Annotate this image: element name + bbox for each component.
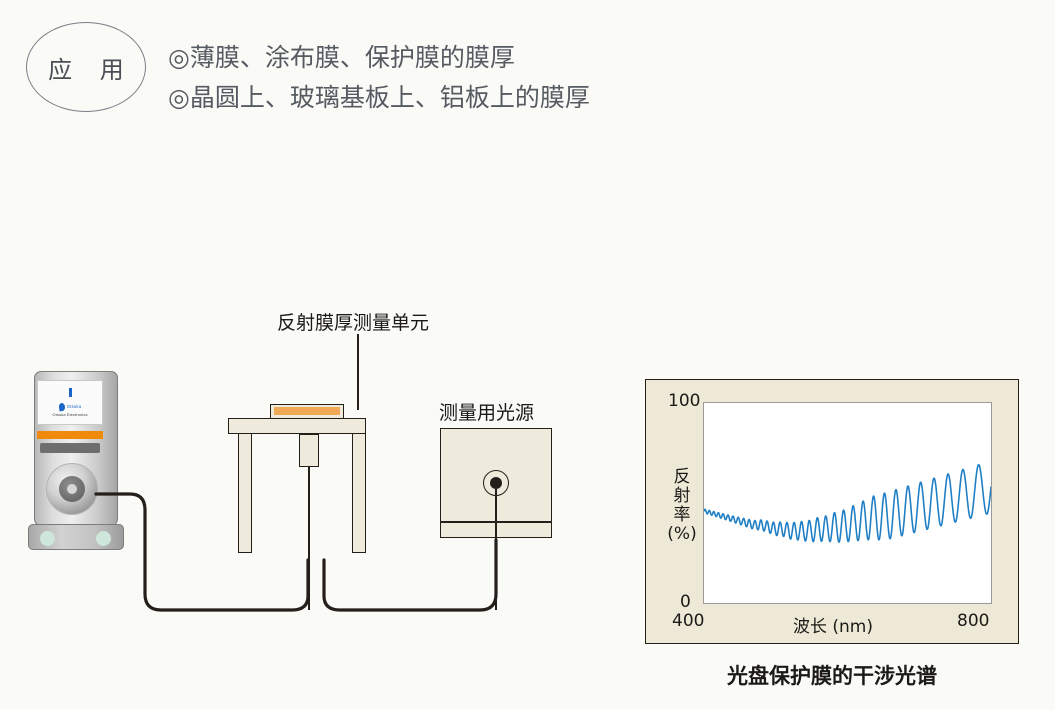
otsuka-logo-icon — [58, 402, 65, 411]
y-axis-tick-bottom: 0 — [680, 592, 691, 612]
instrument-logo: Otsuka — [59, 403, 81, 411]
instrument-logo-text: Otsuka — [67, 404, 81, 409]
instrument-port-core — [67, 484, 77, 494]
chart-caption: 光盘保护膜的干涉光谱 — [645, 660, 1019, 690]
application-badge: 应 用 — [26, 22, 146, 112]
measurement-unit-label: 反射膜厚测量单元 — [277, 308, 429, 335]
spectrum-chart-panel: 100 0 400 800 反 射 率 (%) 波长 (nm) — [645, 379, 1019, 644]
sensor-cable-stem — [308, 467, 310, 610]
instrument-accent-band — [37, 431, 103, 439]
instrument-logo-subtext: Otsuka Electronics — [52, 412, 87, 417]
y-axis-label-char-2: 射 — [664, 487, 700, 506]
application-bullet-list: ◎薄膜、涂布膜、保护膜的膜厚 ◎晶圆上、玻璃基板上、铝板上的膜厚 — [168, 38, 590, 118]
y-axis-label: 反 射 率 (%) — [664, 468, 700, 544]
y-axis-label-char-1: 反 — [664, 468, 700, 487]
leader-line — [357, 334, 359, 410]
light-source-port-dot — [490, 477, 502, 489]
spectrometer-instrument: Otsuka Otsuka Electronics — [28, 371, 124, 551]
y-axis-label-char-3: 率 — [664, 506, 700, 525]
spectrum-curve-svg — [704, 403, 991, 603]
plot-area — [703, 402, 992, 604]
application-bullet-2: ◎晶圆上、玻璃基板上、铝板上的膜厚 — [168, 78, 590, 118]
stage-table-top — [228, 418, 366, 434]
stage-table-leg-left — [238, 433, 252, 553]
stage-table-leg-right — [352, 433, 366, 553]
instrument-screen: Otsuka Otsuka Electronics — [37, 380, 103, 425]
application-bullet-1: ◎薄膜、涂布膜、保护膜的膜厚 — [168, 38, 590, 78]
instrument-slot — [40, 443, 100, 453]
light-source-cable-stem — [495, 489, 497, 610]
spectrum-curve — [704, 465, 991, 542]
cable-source-to-sensor — [324, 540, 496, 610]
instrument-foot-left — [40, 531, 55, 546]
light-source-label: 测量用光源 — [439, 398, 534, 425]
cable-instrument-to-sensor — [96, 494, 308, 610]
application-badge-label: 应 用 — [38, 50, 134, 85]
slide-canvas: 应 用 ◎薄膜、涂布膜、保护膜的膜厚 ◎晶圆上、玻璃基板上、铝板上的膜厚 反射膜… — [0, 0, 1055, 710]
sample-film — [274, 407, 340, 415]
x-axis-label: 波长 (nm) — [646, 612, 1020, 637]
reflection-sensor-head — [299, 434, 319, 467]
y-axis-label-unit: (%) — [664, 525, 700, 544]
instrument-indicator-icon — [69, 388, 72, 397]
instrument-foot-right — [96, 531, 111, 546]
y-axis-tick-top: 100 — [668, 391, 700, 411]
